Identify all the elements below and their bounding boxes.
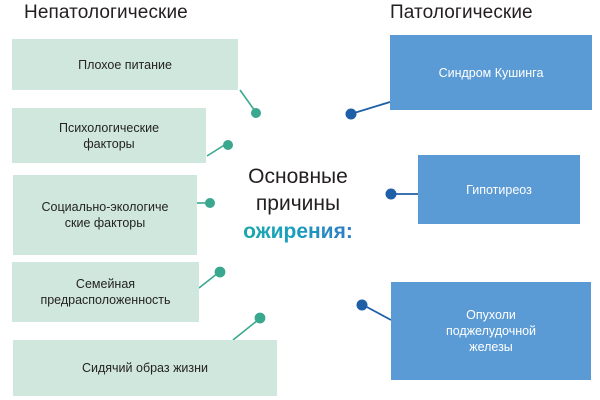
center-caption-accent: ожирения [243,220,346,243]
connector-dot-path-2 [386,189,395,198]
connector-dot-path-3 [357,300,366,309]
connector-dot-nonpath-1 [252,109,260,117]
connector-dot-nonpath-5 [255,313,264,322]
connector-line-path-1 [354,102,390,113]
center-caption-colon: : [346,220,353,243]
node-nonpathological-3[interactable]: Социально-экологические факторы [13,175,197,255]
connector-dot-nonpath-2 [224,141,232,149]
node-nonpathological-2[interactable]: Психологическиефакторы [12,108,206,163]
connector-dot-nonpath-3 [206,199,214,207]
node-nonpathological-5[interactable]: Сидячий образ жизни [13,340,277,396]
node-nonpathological-1[interactable]: Плохое питание [12,39,238,90]
connector-line-nonpath-5 [233,320,258,340]
node-nonpathological-4[interactable]: Семейнаяпредрасположенность [12,262,199,322]
node-pathological-3[interactable]: Опухолиподжелудочнойжелезы [391,282,591,380]
connector-line-path-3 [365,306,391,320]
center-caption: Основные причины ожирения: [228,163,368,245]
connector-line-nonpath-4 [199,273,218,288]
node-pathological-1[interactable]: Синдром Кушинга [390,35,592,110]
connector-line-nonpath-2 [207,144,226,156]
center-caption-line1: Основные [228,163,368,190]
column-header-nonpathological: Непатологические [24,2,188,24]
column-header-pathological: Патологические [390,2,533,24]
connector-dot-nonpath-4 [215,267,224,276]
center-caption-line3: ожирения: [228,218,368,245]
node-pathological-2[interactable]: Гипотиреоз [418,155,580,224]
connector-line-nonpath-1 [240,90,255,111]
connector-dot-path-1 [346,109,355,118]
center-caption-line2: причины [228,190,368,217]
infographic-canvas: Непатологические Патологические Плохое п… [0,0,600,400]
